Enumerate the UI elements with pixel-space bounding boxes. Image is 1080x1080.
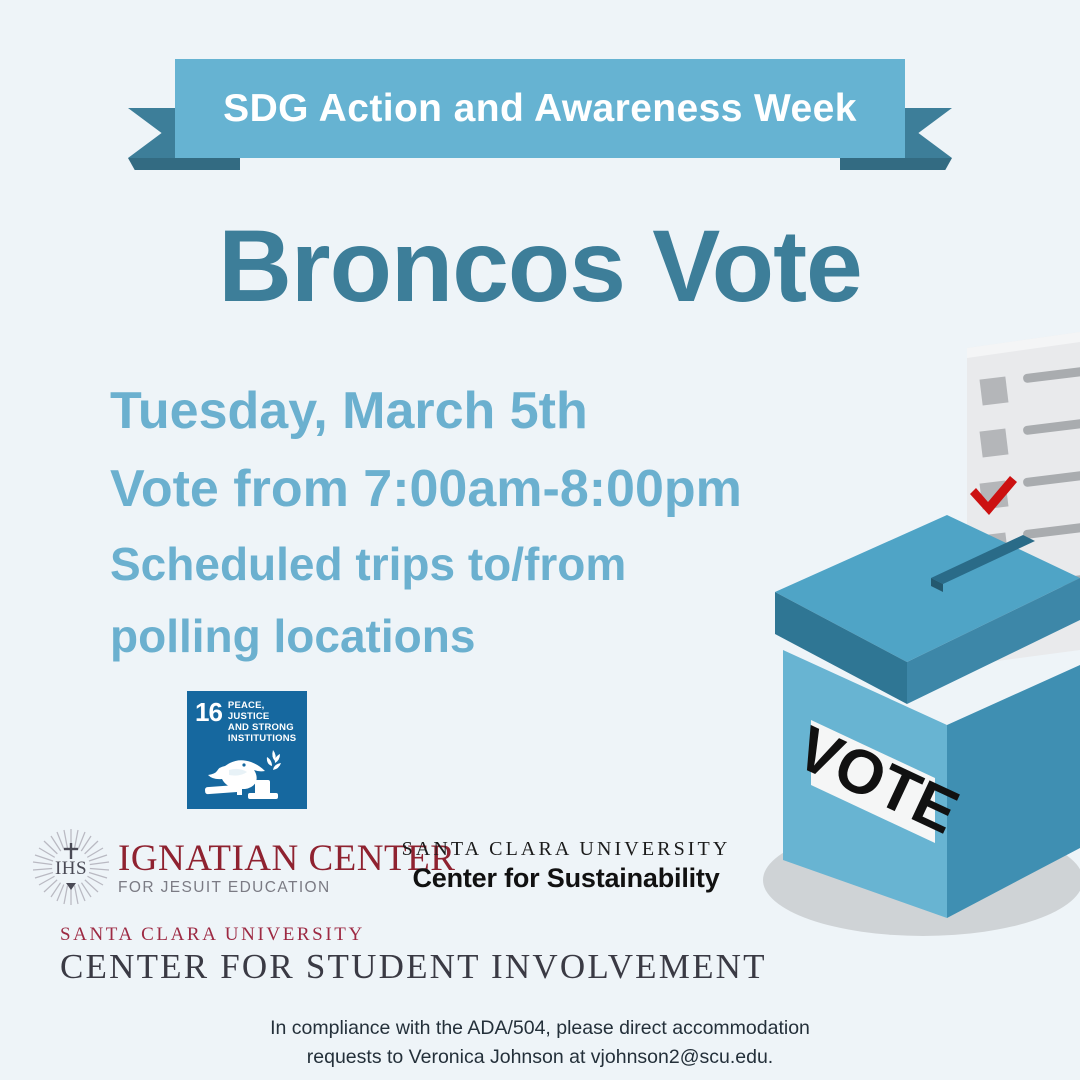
- sdg-title-line-1: PEACE, JUSTICE: [228, 700, 299, 722]
- ribbon-fold-left: [128, 158, 240, 170]
- page-title: Broncos Vote: [0, 215, 1080, 317]
- sdg-badge-header: 16 PEACE, JUSTICE AND STRONG INSTITUTION…: [195, 700, 299, 744]
- sdg-title-line-2: AND STRONG: [228, 722, 299, 733]
- banner: SDG Action and Awareness Week: [0, 46, 1080, 166]
- ballot-box-illustration: VOTE: [735, 320, 1080, 980]
- sdg-title-line-3: INSTITUTIONS: [228, 733, 299, 744]
- ada-notice-line-1: In compliance with the ADA/504, please d…: [0, 1014, 1080, 1043]
- center-for-sustainability-name: Center for Sustainability: [398, 863, 734, 894]
- ignatian-center-logo: IHS IGNATIAN CENTER FOR JESUIT EDUCATION: [30, 826, 455, 908]
- ada-compliance-notice: In compliance with the ADA/504, please d…: [0, 1014, 1080, 1072]
- ada-notice-line-2: requests to Veronica Johnson at vjohnson…: [0, 1043, 1080, 1072]
- banner-body: SDG Action and Awareness Week: [175, 59, 905, 158]
- banner-title: SDG Action and Awareness Week: [223, 87, 857, 131]
- scu-wordmark-csi: SANTA CLARA UNIVERSITY: [60, 924, 767, 946]
- svg-text:IHS: IHS: [55, 858, 87, 879]
- ihs-sunburst-icon: IHS: [30, 826, 112, 908]
- sdg-16-badge: 16 PEACE, JUSTICE AND STRONG INSTITUTION…: [187, 691, 307, 809]
- center-for-sustainability-logo: SANTA CLARA UNIVERSITY Center for Sustai…: [398, 838, 734, 894]
- center-for-student-involvement-logo: SANTA CLARA UNIVERSITY CENTER FOR STUDEN…: [60, 924, 767, 988]
- center-for-student-involvement-name: CENTER FOR STUDENT INVOLVEMENT: [60, 946, 767, 988]
- sdg-goal-number: 16: [195, 700, 222, 725]
- ribbon-fold-right: [840, 158, 952, 170]
- dove-and-gavel-icon: [195, 748, 299, 800]
- scu-wordmark-sustainability: SANTA CLARA UNIVERSITY: [398, 838, 734, 861]
- sdg-goal-title: PEACE, JUSTICE AND STRONG INSTITUTIONS: [228, 700, 299, 744]
